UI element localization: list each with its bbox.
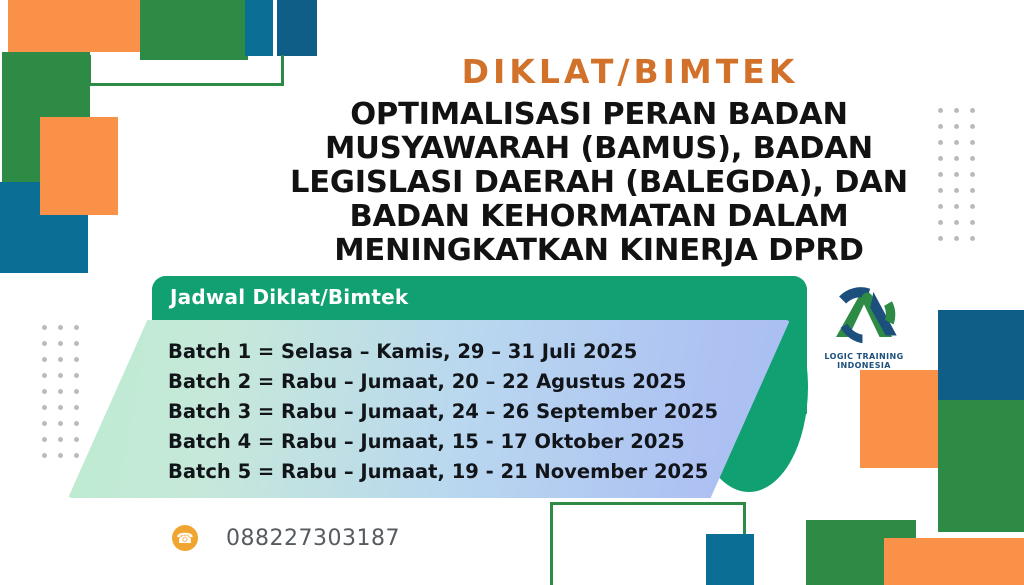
schedule-batch-list: Batch 1 = Selasa – Kamis, 29 – 31 Juli 2… [168,337,808,487]
poster-canvas: DIKLAT/BIMTEK OPTIMALISASI PERAN BADAN M… [0,0,1024,585]
logo: LOGIC TRAINING INDONESIA [812,281,916,381]
decor-rect-orange-top [8,0,140,52]
decor-rect-blue-top-b [277,0,317,56]
title-line-1: OPTIMALISASI PERAN BADAN [268,98,930,132]
kicker-heading: DIKLAT/BIMTEK [330,52,930,91]
decor-frame-green-top [88,55,284,86]
list-item: Batch 1 = Selasa – Kamis, 29 – 31 Juli 2… [168,337,808,367]
decor-rect-orange-right [860,370,938,468]
logo-text: LOGIC TRAINING INDONESIA [812,352,916,370]
decor-rect-blue-right [938,310,1024,408]
phone-number: 088227303187 [226,526,400,551]
logo-mark-icon [825,281,903,351]
schedule-card-header: Jadwal Diklat/Bimtek [152,276,807,318]
schedule-header-label: Jadwal Diklat/Bimtek [170,285,408,309]
list-item: Batch 4 = Rabu – Jumaat, 15 - 17 Oktober… [168,427,808,457]
logo-text-line-1: LOGIC TRAINING [812,352,916,361]
decor-dot-grid-left [42,325,79,458]
logo-text-line-2: INDONESIA [812,361,916,370]
list-item: Batch 5 = Rabu – Jumaat, 19 - 21 Novembe… [168,457,808,487]
title-line-2: MUSYAWARAH (BAMUS), BADAN [268,132,930,166]
phone-icon: ☎ [172,525,198,551]
contact-block: ☎ 088227303187 [172,525,400,551]
page-title: OPTIMALISASI PERAN BADAN MUSYAWARAH (BAM… [268,98,930,268]
decor-rect-orange-left [40,117,118,215]
title-line-4: BADAN KEHORMATAN DALAM [268,200,930,234]
decor-rect-blue-bottom [706,534,754,585]
decor-rect-blue-top-a [245,0,273,56]
title-line-5: MENINGKATKAN KINERJA DPRD [268,234,930,268]
list-item: Batch 2 = Rabu – Jumaat, 20 – 22 Agustus… [168,367,808,397]
decor-rect-green-right [938,400,1024,532]
decor-rect-green-top [140,0,248,60]
list-item: Batch 3 = Rabu – Jumaat, 24 – 26 Septemb… [168,397,808,427]
title-line-3: LEGISLASI DAERAH (BALEGDA), DAN [268,166,930,200]
decor-dot-grid-right [938,108,975,241]
decor-rect-orange-bottom [884,538,1024,585]
